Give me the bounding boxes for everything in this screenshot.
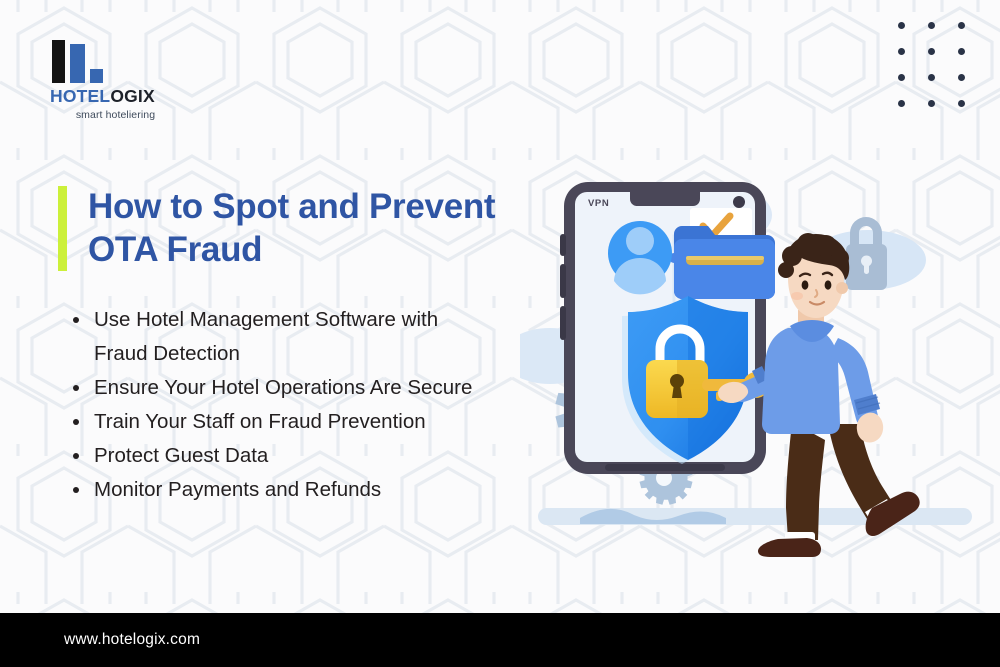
grid-dot bbox=[928, 100, 935, 107]
logo-bar-dark bbox=[52, 40, 65, 83]
grid-dot bbox=[958, 22, 965, 29]
list-item: Use Hotel Management Software with Fraud… bbox=[70, 303, 490, 371]
headline-accent-bar bbox=[58, 186, 67, 271]
grid-dot bbox=[958, 74, 965, 81]
page-title: How to Spot and Prevent OTA Fraud bbox=[88, 186, 495, 271]
footer-website-url[interactable]: www.hotelogix.com bbox=[64, 631, 200, 649]
logo-mark-icon bbox=[52, 40, 195, 83]
grid-dot bbox=[928, 48, 935, 55]
phone-vpn-label: VPN bbox=[588, 198, 609, 209]
grid-dot bbox=[898, 100, 905, 107]
list-item: Ensure Your Hotel Operations Are Secure bbox=[70, 371, 490, 405]
cloud-padlock-icon bbox=[846, 217, 887, 290]
poster-canvas: HOTELOGIX smart hoteliering How to Spot … bbox=[0, 0, 1000, 667]
headline-line-2: OTA Fraud bbox=[88, 229, 495, 272]
grid-dot bbox=[898, 48, 905, 55]
logo-tagline: smart hoteliering bbox=[50, 109, 181, 121]
user-avatar-icon bbox=[608, 221, 672, 294]
headline-line-1: How to Spot and Prevent bbox=[88, 186, 495, 229]
logo-wordmark: HOTELOGIX bbox=[50, 88, 195, 106]
logo-bar-blue bbox=[70, 44, 85, 83]
grid-dot bbox=[898, 74, 905, 81]
list-item: Protect Guest Data bbox=[70, 439, 490, 473]
grid-dot bbox=[958, 100, 965, 107]
security-illustration: VPN bbox=[520, 160, 990, 560]
grid-dot bbox=[928, 74, 935, 81]
grid-dot bbox=[898, 22, 905, 29]
grid-dot bbox=[928, 22, 935, 29]
dot-grid-decoration bbox=[886, 12, 976, 116]
list-item: Monitor Payments and Refunds bbox=[70, 473, 490, 507]
key-points-list: Use Hotel Management Software with Fraud… bbox=[70, 303, 490, 507]
folder-icon bbox=[674, 226, 775, 299]
logo-word-primary: HOTEL bbox=[50, 86, 110, 106]
list-item: Train Your Staff on Fraud Prevention bbox=[70, 405, 490, 439]
brand-logo[interactable]: HOTELOGIX smart hoteliering bbox=[50, 40, 195, 121]
grid-dot bbox=[958, 48, 965, 55]
footer-bar: www.hotelogix.com bbox=[0, 613, 1000, 667]
headline-block: How to Spot and Prevent OTA Fraud bbox=[58, 186, 495, 271]
logo-square-blue bbox=[90, 69, 103, 83]
logo-word-secondary: OGIX bbox=[110, 86, 155, 106]
